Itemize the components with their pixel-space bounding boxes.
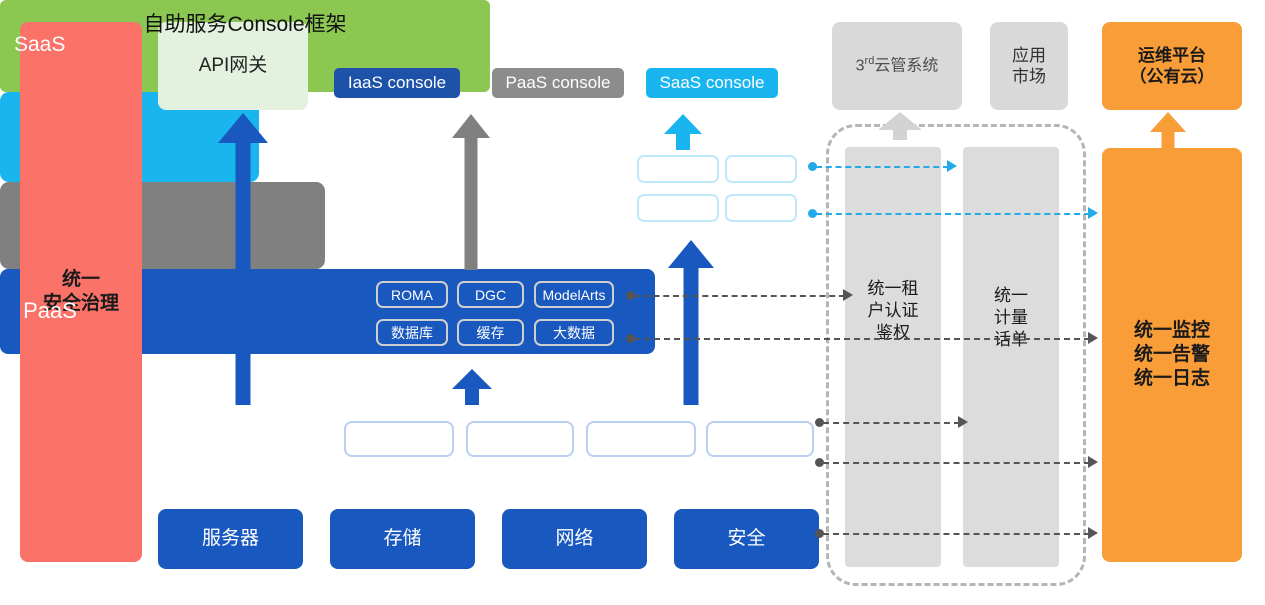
chip-infra-cce[interactable]: CCE [706,421,814,457]
chip-saas-iot[interactable]: IoT [725,155,797,183]
box-resource-security: 安全 [674,509,819,569]
connector-arrowhead [843,289,853,301]
chip-saas-video-cloud[interactable]: 视频云 [637,194,719,222]
connector-saas-to-ops [816,213,1090,215]
chip-infra-storage[interactable]: Storage [466,421,574,457]
chip-saas-blockchain[interactable]: 区块链 [637,155,719,183]
connector-infra-to-metering [823,422,960,424]
connector-saas-to-metering [816,166,949,168]
chip-paas-dgc[interactable]: DGC [457,281,524,308]
connector-infra-to-ops [823,462,1090,464]
ops-platform-top-label: 运维平台 （公有云） [1130,45,1215,88]
connector-resources-to-ops [823,533,1090,535]
chip-saas-console[interactable]: SaaS console [646,68,778,98]
ops-platform-main-label: 统一监控 统一告警 统一日志 [1134,319,1210,390]
column-metering-label: 统一 计量 话单 [963,285,1059,351]
connector-paas-to-ops [634,338,1090,340]
saas-label: SaaS [14,33,86,57]
arrow-saas-to-console [664,114,702,150]
box-resource-server: 服务器 [158,509,303,569]
box-resource-storage: 存储 [330,509,475,569]
chip-paas-bigdata[interactable]: 大数据 [534,319,614,346]
box-ops-platform-public-cloud: 运维平台 （公有云） [1102,22,1242,110]
infrastructure-label: 统一基础设施服务 [170,425,340,452]
arrow-shared-to-ops-platform [1150,112,1186,150]
app-market-label: 应用 市场 [1012,45,1046,88]
column-unified-metering [963,147,1059,567]
chip-saas-desktop-cloud[interactable]: 桌面云 [725,194,797,222]
arrow-shared-to-third-party [878,112,922,140]
panel-ops-monitoring: 统一监控 统一告警 统一日志 [1102,148,1242,562]
chip-paas-cache[interactable]: 缓存 [457,319,524,346]
connector-paas-to-auth [634,295,845,297]
connector-arrowhead [947,160,957,172]
architecture-diagram: 统一 安全治理 API网关 自助服务Console框架 IaaS console… [0,0,1265,605]
paas-label: PaaS [14,298,86,324]
box-resource-network: 网络 [502,509,647,569]
box-app-market: 应用 市场 [990,22,1068,110]
connector-arrowhead [958,416,968,428]
chip-paas-console[interactable]: PaaS console [492,68,624,98]
chip-paas-modelarts[interactable]: ModelArts [534,281,614,308]
chip-paas-roma[interactable]: ROMA [376,281,448,308]
third-party-label: 3rd云管系统 [856,55,939,76]
connector-arrowhead [1088,332,1098,344]
chip-infra-compute[interactable]: Compute [344,421,454,457]
connector-arrowhead [1088,207,1098,219]
arrow-paas-to-console [452,114,490,270]
chip-iaas-console[interactable]: IaaS console [334,68,460,98]
chip-paas-database[interactable]: 数据库 [376,319,448,346]
arrow-infra-to-saas [668,240,714,405]
connector-arrowhead [1088,527,1098,539]
connector-arrowhead [1088,456,1098,468]
box-third-party-cloud-mgmt: 3rd云管系统 [832,22,962,110]
chip-infra-network[interactable]: Network [586,421,696,457]
arrow-infra-to-api-gateway [218,113,268,405]
api-gateway-label: API网关 [199,54,268,78]
panel-unified-security: 统一 安全治理 [20,22,142,562]
column-auth-label: 统一租 户认证 鉴权 [845,278,941,344]
arrow-infra-to-paas [452,369,492,405]
column-unified-tenant-auth [845,147,941,567]
